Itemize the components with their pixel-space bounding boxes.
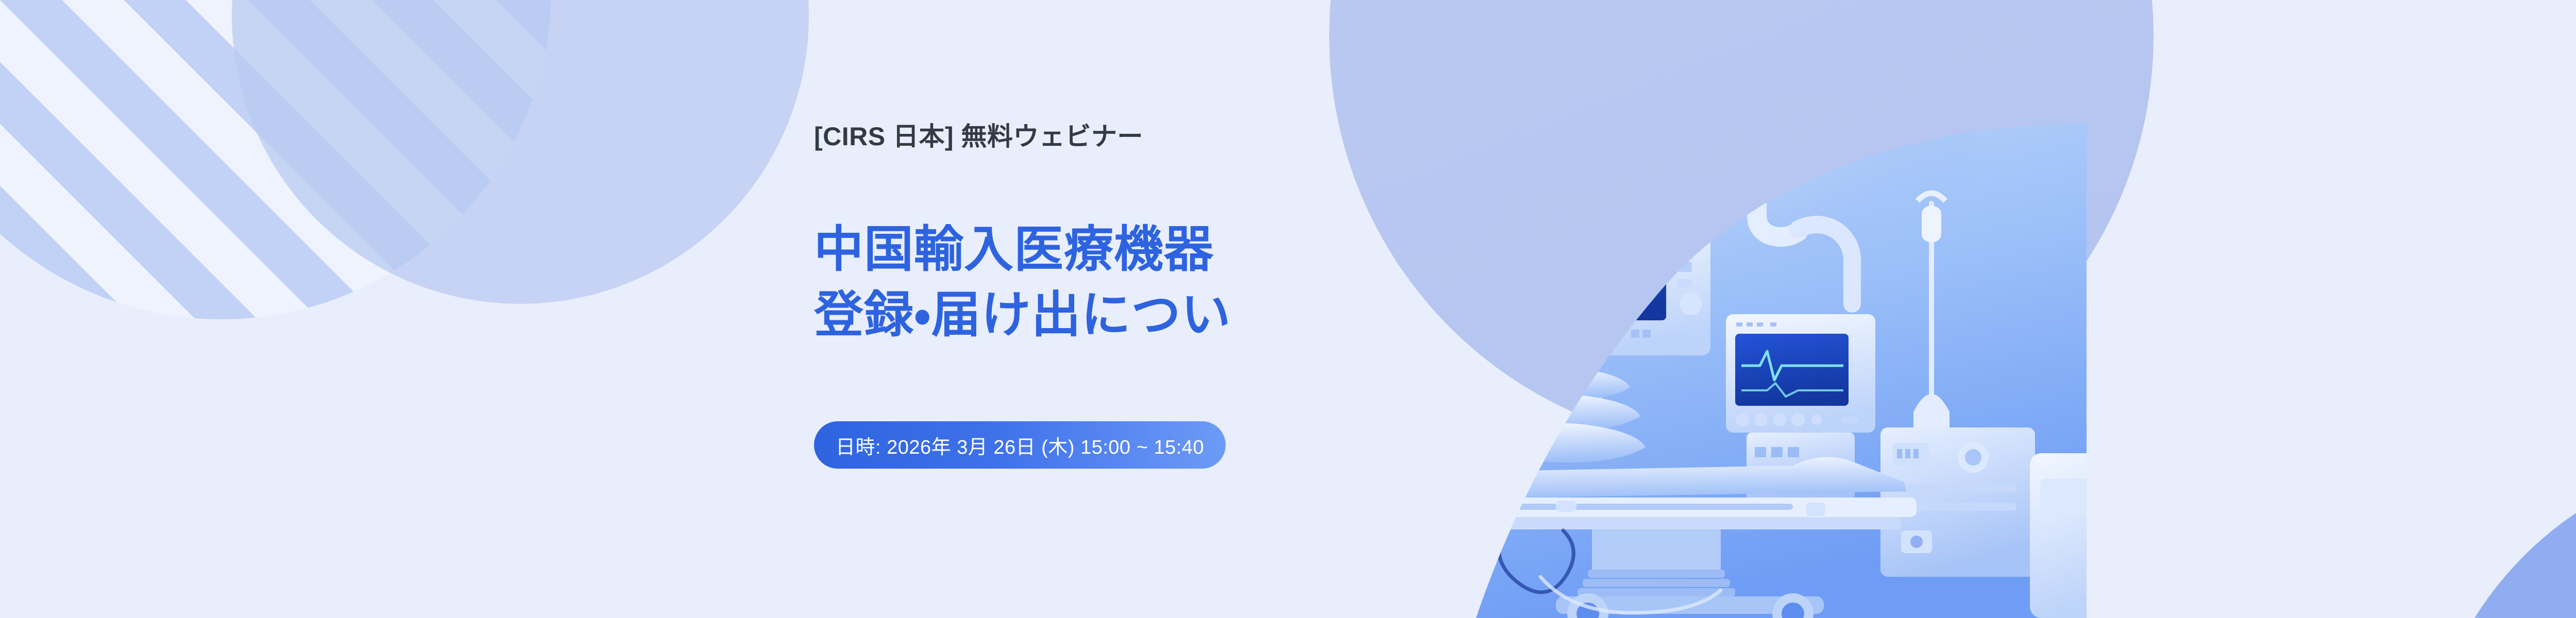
- eyebrow-label: [CIRS 日本] 無料ウェビナー: [814, 124, 1143, 149]
- headline-line-2: 登録・届け出につい: [814, 283, 1231, 348]
- bottom-right-circle: [2421, 453, 2576, 618]
- right-edge-device: [2030, 453, 2087, 618]
- page-title: 中国輸入医療機器 登録・届け出につい: [814, 217, 1231, 348]
- banner-content: [CIRS 日本] 無料ウェビナー 中国輸入医療機器 登録・届け出につい 日時:…: [814, 0, 1587, 618]
- diagonal-stripes: [0, 0, 824, 618]
- top-left-periwinkle-circle: [232, 0, 809, 304]
- headline-line-1: 中国輸入医療機器: [814, 217, 1231, 283]
- date-time-badge: 日時: 2026年 3月 26日 (木) 15:00 ~ 15:40: [814, 421, 1226, 469]
- webinar-banner: [CIRS 日本] 無料ウェビナー 中国輸入医療機器 登録・届け出につい 日時:…: [0, 0, 2576, 618]
